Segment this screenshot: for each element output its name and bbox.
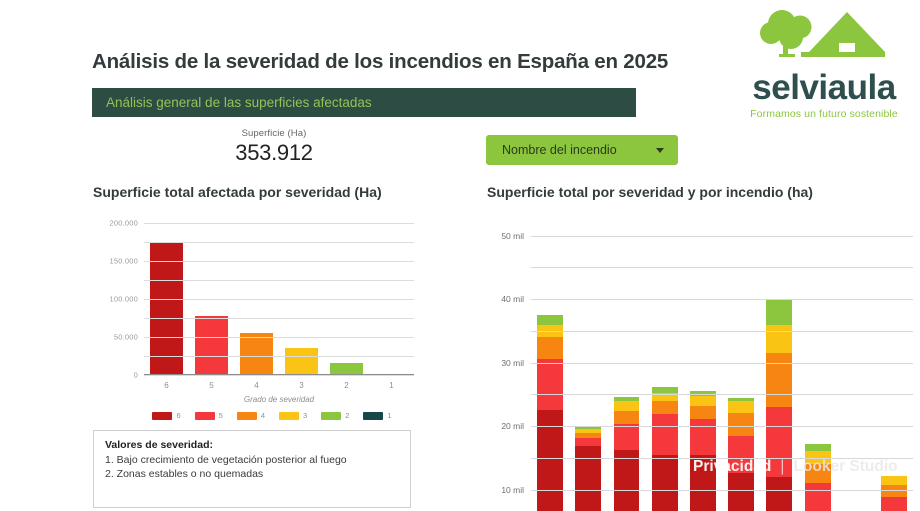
right-chart-bar-segment[interactable] [652, 401, 678, 414]
right-chart-bar-segment[interactable] [766, 325, 792, 354]
right-chart-bar-segment[interactable] [766, 353, 792, 407]
right-chart-gridline [531, 363, 913, 364]
right-chart-gridline [531, 426, 913, 427]
note-title: Valores de severidad: [105, 439, 399, 451]
legend-swatch [321, 412, 341, 420]
left-chart-y-tick-label: 50.000 [114, 333, 138, 342]
right-chart-stacked-bar[interactable] [575, 426, 601, 511]
left-chart-gridline [144, 337, 414, 338]
left-chart-gridline [144, 223, 414, 224]
legend-label: 5 [219, 411, 223, 420]
right-chart-bar-segment[interactable] [690, 406, 716, 419]
right-chart-bar-segment[interactable] [728, 413, 754, 435]
scorecard-label: Superficie (Ha) [184, 128, 364, 139]
right-chart-bar-cell[interactable] [531, 223, 569, 511]
right-chart-bars [531, 223, 913, 511]
right-chart-bar-cell[interactable] [684, 223, 722, 511]
right-chart-bar-segment[interactable] [537, 315, 563, 325]
left-chart-y-tick-label: 0 [134, 371, 138, 380]
brand-tagline: Formamos un futuro sostenible [736, 108, 912, 120]
left-chart-title: Superficie total afectada por severidad … [93, 184, 382, 200]
right-chart-bar-segment[interactable] [537, 337, 563, 359]
right-chart-bar-cell[interactable] [722, 223, 760, 511]
right-chart-bar-segment[interactable] [575, 446, 601, 511]
right-chart-bar-segment[interactable] [690, 419, 716, 455]
right-chart-bar-segment[interactable] [728, 473, 754, 511]
left-chart-x-tick-label: 6 [144, 381, 189, 390]
section-banner-label: Análisis general de las superficies afec… [106, 95, 372, 110]
legend-swatch [279, 412, 299, 420]
right-chart-bar-segment[interactable] [766, 477, 792, 511]
right-chart-stacked-bar[interactable] [805, 444, 831, 511]
right-chart-bar-cell[interactable] [646, 223, 684, 511]
left-chart-y-tick-label: 200.000 [109, 219, 138, 228]
left-chart-bar[interactable] [285, 348, 317, 374]
right-chart-bar-segment[interactable] [728, 436, 754, 473]
severity-values-note: Valores de severidad: 1. Bajo crecimient… [93, 430, 411, 508]
right-chart-bar-segment[interactable] [575, 438, 601, 446]
legend-label: 2 [345, 411, 349, 420]
left-chart-gridline [144, 318, 414, 319]
right-chart-stacked-bar[interactable] [537, 315, 563, 511]
left-chart-legend[interactable]: 654321 [122, 411, 422, 420]
left-chart-gridline [144, 299, 414, 300]
right-chart-stacked-bar[interactable] [652, 387, 678, 511]
left-chart-x-tick-labels: 654321 [144, 381, 414, 390]
right-chart-y-tick-label: 40 mil [501, 294, 524, 304]
right-chart-y-tick-label: 30 mil [501, 358, 524, 368]
right-chart-bar-cell[interactable] [569, 223, 607, 511]
right-chart-bar-segment[interactable] [652, 455, 678, 511]
left-chart-legend-item[interactable]: 1 [363, 411, 391, 420]
right-chart-y-tick-label: 20 mil [501, 421, 524, 431]
right-chart-bar-cell[interactable] [760, 223, 798, 511]
note-line: 1. Bajo crecimiento de vegetación poster… [105, 453, 399, 467]
legend-swatch [237, 412, 257, 420]
chart-superficie-por-severidad-e-incendio[interactable]: 10 mil20 mil30 mil40 mil50 mil Privacida… [487, 215, 915, 511]
right-chart-gridline [531, 236, 913, 237]
right-chart-bar-segment[interactable] [805, 444, 831, 452]
right-chart-bar-cell[interactable] [875, 223, 913, 511]
tree-house-icon [749, 8, 899, 70]
right-chart-bar-cell[interactable] [607, 223, 645, 511]
right-chart-bar-segment[interactable] [537, 359, 563, 410]
filter-dropdown-label: Nombre del incendio [502, 143, 617, 157]
left-chart-bar[interactable] [150, 243, 182, 374]
right-chart-bar-segment[interactable] [881, 476, 907, 485]
right-chart-bar-segment[interactable] [614, 450, 640, 511]
right-chart-y-tick-label: 50 mil [501, 231, 524, 241]
right-chart-gridline [531, 490, 913, 491]
right-chart-stacked-bar[interactable] [881, 476, 907, 511]
legend-swatch [152, 412, 172, 420]
left-chart-x-tick-label: 3 [279, 381, 324, 390]
legend-swatch [363, 412, 383, 420]
left-chart-bar[interactable] [195, 316, 227, 374]
left-chart-legend-item[interactable]: 4 [237, 411, 265, 420]
scorecard-superficie: Superficie (Ha) 353.912 [184, 128, 364, 166]
chart-superficie-por-severidad[interactable]: 050.000100.000150.000200.000 654321 Grad… [92, 215, 422, 430]
right-chart-gridline [531, 267, 913, 268]
left-chart-x-tick-label: 2 [324, 381, 369, 390]
brand-logo: selviaula Formamos un futuro sostenible [736, 8, 912, 120]
left-chart-x-tick-label: 1 [369, 381, 414, 390]
right-chart-stacked-bar[interactable] [690, 391, 716, 511]
right-chart-bar-segment[interactable] [690, 396, 716, 407]
left-chart-legend-item[interactable]: 2 [321, 411, 349, 420]
right-chart-bar-segment[interactable] [766, 407, 792, 477]
right-chart-gridline [531, 331, 913, 332]
legend-swatch [195, 412, 215, 420]
right-chart-stacked-bar[interactable] [728, 398, 754, 511]
right-chart-gridline [531, 458, 913, 459]
right-chart-bar-segment[interactable] [614, 401, 640, 411]
left-chart-x-axis-title: Grado de severidad [144, 395, 414, 404]
left-chart-legend-item[interactable]: 5 [195, 411, 223, 420]
dashboard-page: selviaula Formamos un futuro sostenible … [0, 0, 920, 511]
right-chart-bar-cell[interactable] [798, 223, 836, 511]
right-chart-bar-segment[interactable] [881, 485, 907, 496]
right-chart-bar-segment[interactable] [690, 455, 716, 511]
left-chart-gridline [144, 261, 414, 262]
note-line: 2. Zonas estables o no quemadas [105, 467, 399, 481]
right-chart-bar-segment[interactable] [766, 299, 792, 324]
left-chart-bar[interactable] [330, 363, 362, 374]
right-chart-y-tick-label: 10 mil [501, 485, 524, 495]
left-chart-plot-area: 050.000100.000150.000200.000 [144, 223, 414, 375]
section-banner: Análisis general de las superficies afec… [92, 88, 636, 117]
left-chart-bar[interactable] [240, 333, 272, 374]
left-chart-gridline [144, 280, 414, 281]
left-chart-x-tick-label: 4 [234, 381, 279, 390]
legend-label: 3 [303, 411, 307, 420]
right-chart-bar-segment[interactable] [652, 414, 678, 455]
legend-label: 1 [387, 411, 391, 420]
right-chart-stacked-bar[interactable] [614, 397, 640, 511]
legend-label: 4 [261, 411, 265, 420]
left-chart-gridline [144, 356, 414, 357]
legend-label: 6 [176, 411, 180, 420]
right-chart-plot-area: 10 mil20 mil30 mil40 mil50 mil [531, 223, 913, 511]
right-chart-bar-segment[interactable] [614, 424, 640, 451]
page-title: Análisis de la severidad de los incendio… [92, 50, 668, 74]
left-chart-gridline [144, 242, 414, 243]
right-chart-bar-cell[interactable] [837, 223, 875, 511]
right-chart-bar-segment[interactable] [614, 411, 640, 424]
right-chart-bar-segment[interactable] [805, 464, 831, 483]
right-chart-gridline [531, 394, 913, 395]
scorecard-value: 353.912 [184, 140, 364, 166]
left-chart-y-tick-label: 100.000 [109, 295, 138, 304]
left-chart-y-tick-label: 150.000 [109, 257, 138, 266]
right-chart-bar-segment[interactable] [805, 483, 831, 511]
right-chart-gridline [531, 299, 913, 300]
left-chart-x-tick-label: 5 [189, 381, 234, 390]
right-chart-bar-segment[interactable] [881, 497, 907, 511]
left-chart-gridline [144, 375, 414, 376]
chevron-down-icon [656, 148, 664, 153]
right-chart-bar-segment[interactable] [728, 401, 754, 413]
brand-name: selviaula [736, 70, 912, 105]
filter-dropdown-nombre-incendio[interactable]: Nombre del incendio [486, 135, 678, 165]
left-chart-legend-item[interactable]: 6 [152, 411, 180, 420]
right-chart-title: Superficie total por severidad y por inc… [487, 184, 813, 200]
left-chart-legend-item[interactable]: 3 [279, 411, 307, 420]
